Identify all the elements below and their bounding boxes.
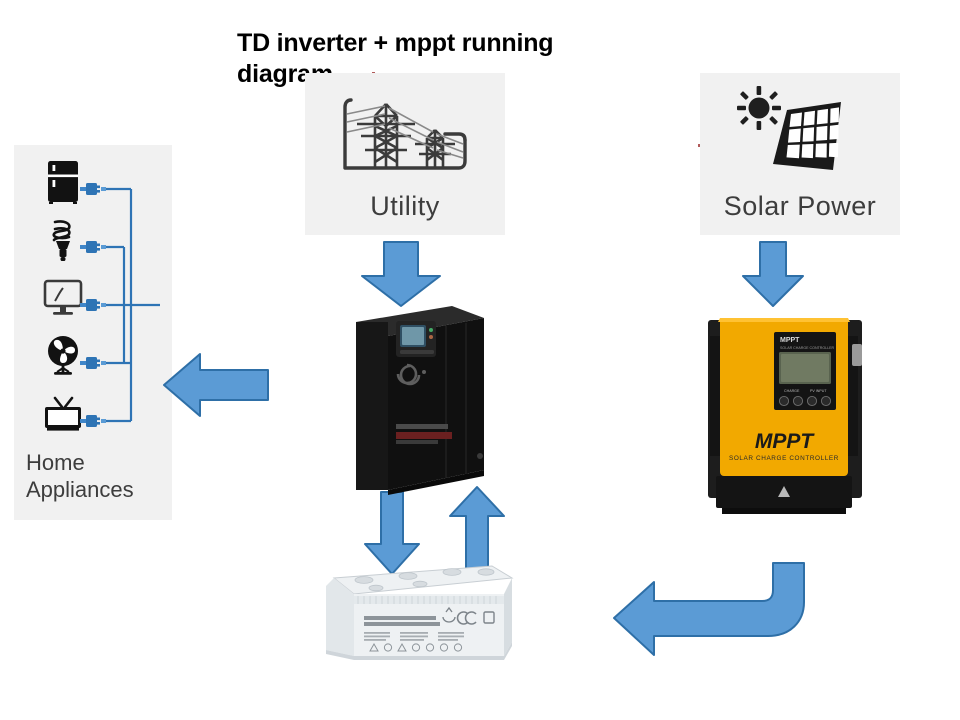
svg-text:MPPT: MPPT [755, 430, 816, 453]
utility-caption: Utility [370, 191, 440, 222]
appliance-wiring [0, 140, 200, 470]
inverter-brand-text: eac [0, 0, 1, 1]
solar-caption: Solar Power [724, 191, 877, 222]
svg-text:MPPT: MPPT [780, 337, 800, 344]
battery-label-line1: DEEP CYCLE GEL BATTERY [0, 0, 1, 1]
svg-text:SOLAR CHARGE CONTROLLER: SOLAR CHARGE CONTROLLER [729, 455, 839, 462]
solar-inverter-device[interactable] [348, 296, 488, 496]
utility-source-panel: Utility [305, 73, 505, 235]
mppt-subtitle-text: SOLAR CHARGE CONTROLLER [0, 0, 1, 1]
arrow-mppt-to-battery [612, 560, 812, 660]
home-appliances-caption-line2: Appliances [26, 477, 176, 504]
diagram-canvas: TD inverter + mppt running diagram [0, 0, 960, 720]
mppt-charge-controller-device[interactable]: MPPT SOLAR CHARGE CONTROLLER CHARGE PV I… [700, 308, 870, 526]
svg-text:PV INPUT: PV INPUT [810, 389, 827, 393]
arrow-inverter-to-appliances [162, 352, 270, 418]
arrow-solar-to-mppt [740, 240, 806, 308]
svg-text:SOLAR CHARGE CONTROLLER: SOLAR CHARGE CONTROLLER [780, 346, 835, 350]
gel-battery-device[interactable] [316, 560, 516, 670]
svg-text:CHARGE: CHARGE [784, 389, 800, 393]
inverter-label-line1: SOLAR INVERTER [0, 0, 1, 1]
solar-source-panel: Solar Power [700, 73, 900, 235]
inverter-label-line2: HIGH FREQUENCY SERIES [0, 0, 1, 1]
power-transmission-tower-icon [341, 92, 469, 189]
mppt-title-text: MPPT [0, 0, 1, 1]
solar-panel-icon [725, 86, 875, 187]
battery-label-line2: NPG200-12 (12V200Ah/10hr) [0, 0, 1, 1]
